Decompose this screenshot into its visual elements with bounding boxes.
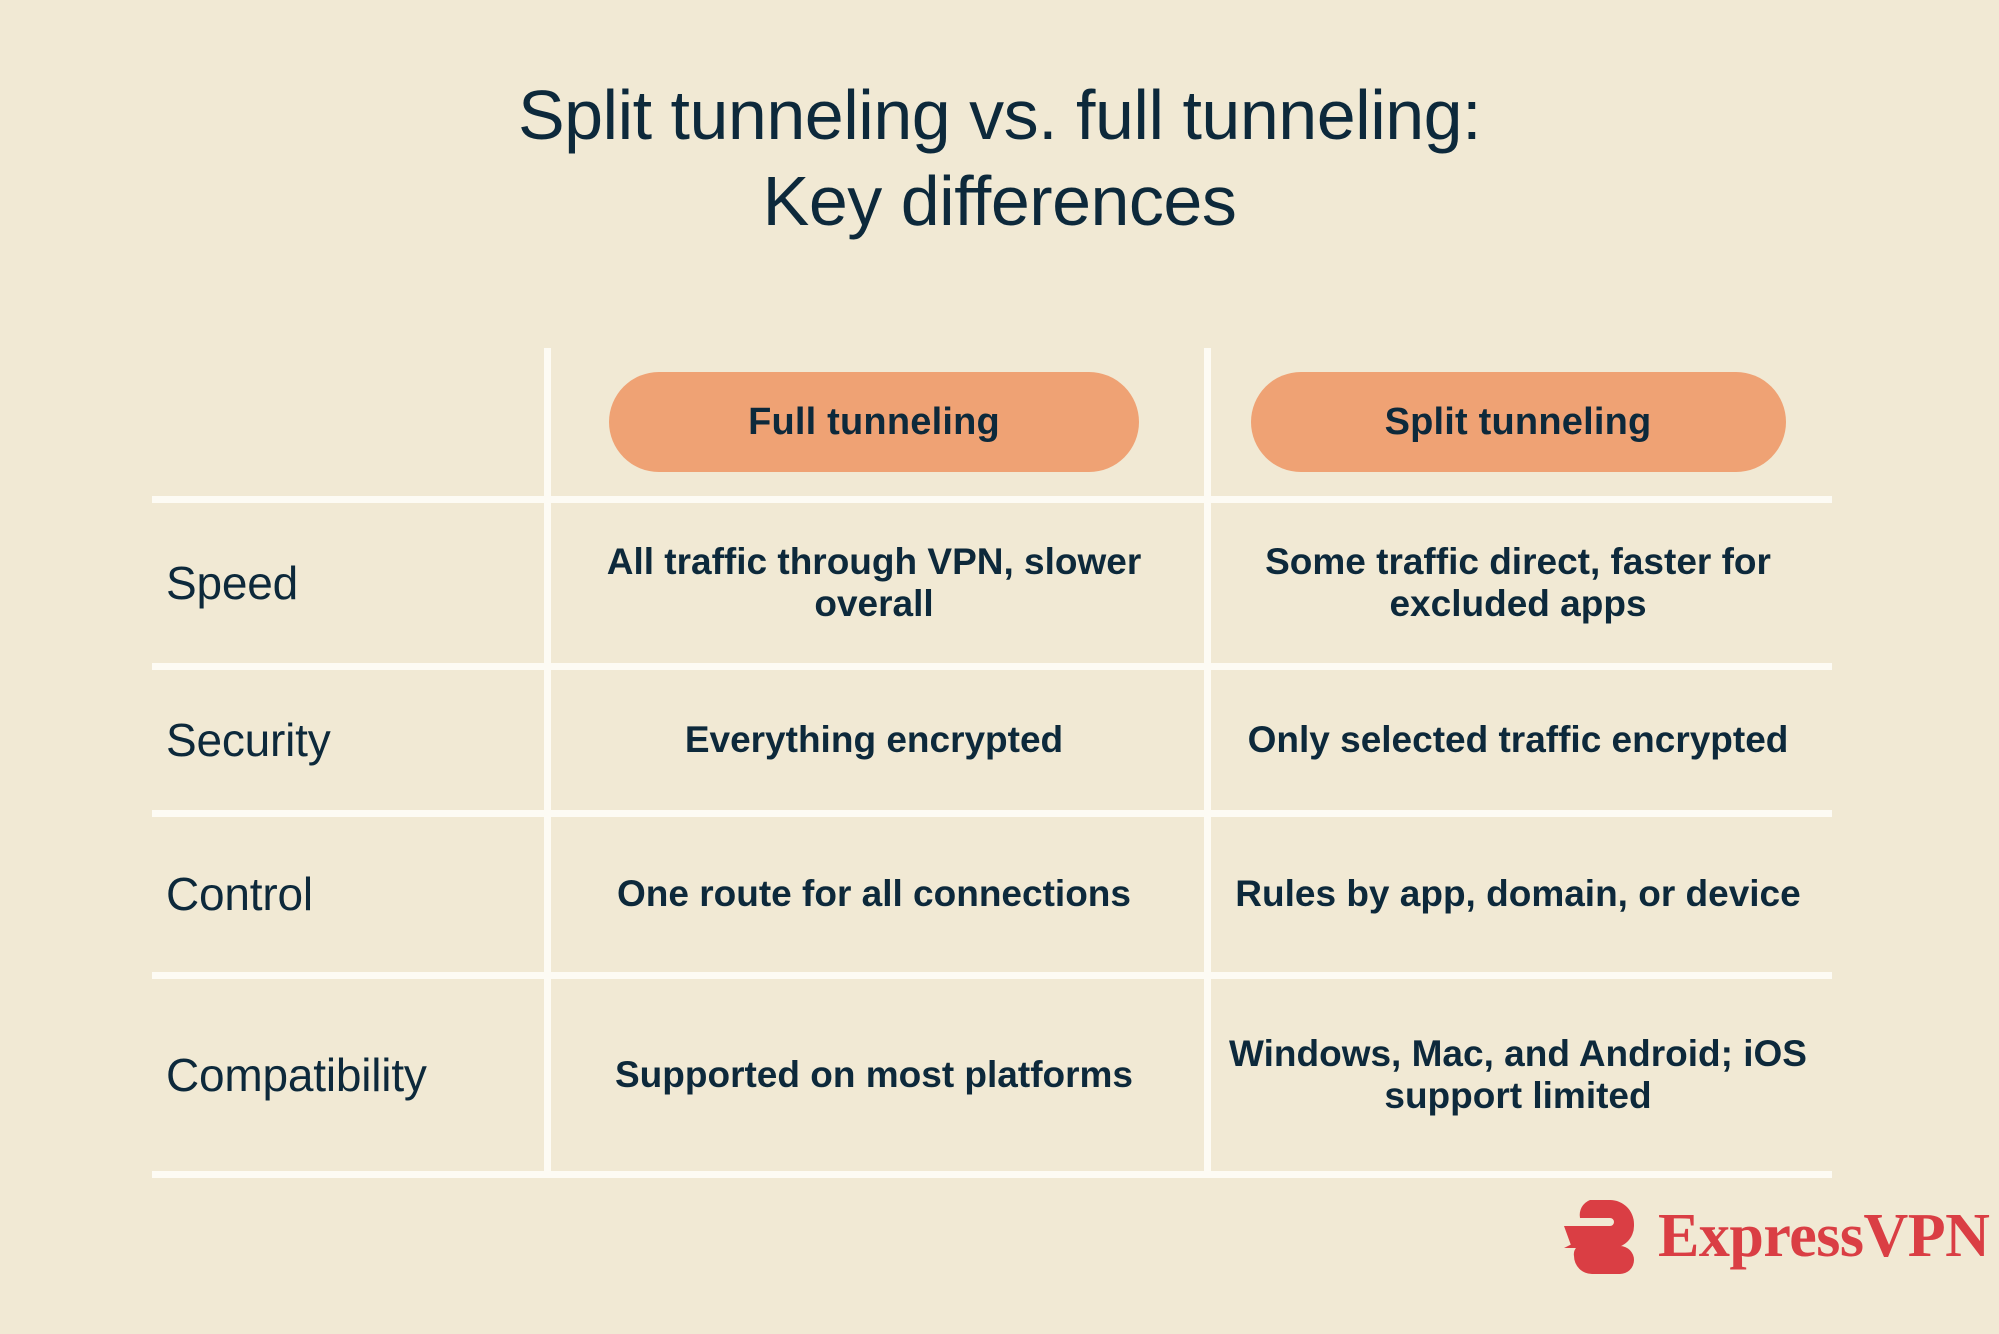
row-value-full: All traffic through VPN, slower overall xyxy=(544,503,1204,663)
row-label-cell: Control xyxy=(152,817,544,972)
expressvpn-wordmark: ExpressVPN xyxy=(1658,1205,1989,1267)
cell-compatibility-full: Supported on most platforms xyxy=(597,1054,1151,1096)
expressvpn-logo: ExpressVPN xyxy=(1556,1196,1989,1276)
header-cell-full-tunneling: Full tunneling xyxy=(544,348,1204,496)
table-row: Compatibility Supported on most platform… xyxy=(152,972,1832,1178)
row-label-security: Security xyxy=(166,715,331,766)
comparison-table: Full tunneling Split tunneling Speed All… xyxy=(152,348,1832,1178)
row-label-cell: Speed xyxy=(152,503,544,663)
table-row: Security Everything encrypted Only selec… xyxy=(152,663,1832,810)
title-line-1: Split tunneling vs. full tunneling: xyxy=(0,72,1999,158)
cell-security-full: Everything encrypted xyxy=(667,719,1081,761)
row-value-full: One route for all connections xyxy=(544,817,1204,972)
row-label-compatibility: Compatibility xyxy=(166,1050,427,1101)
row-label-control: Control xyxy=(166,869,313,920)
row-value-full: Supported on most platforms xyxy=(544,979,1204,1171)
cell-speed-split: Some traffic direct, faster for excluded… xyxy=(1204,541,1832,625)
row-label-speed: Speed xyxy=(166,558,298,609)
row-value-split: Rules by app, domain, or device xyxy=(1204,817,1832,972)
pill-full-tunneling: Full tunneling xyxy=(609,372,1139,472)
row-value-split: Only selected traffic encrypted xyxy=(1204,670,1832,810)
cell-control-full: One route for all connections xyxy=(599,873,1149,915)
row-value-split: Some traffic direct, faster for excluded… xyxy=(1204,503,1832,663)
page-title: Split tunneling vs. full tunneling: Key … xyxy=(0,72,1999,244)
table-row: Speed All traffic through VPN, slower ov… xyxy=(152,496,1832,663)
row-label-cell: Security xyxy=(152,670,544,810)
cell-compatibility-split: Windows, Mac, and Android; iOS support l… xyxy=(1204,1033,1832,1117)
table-row: Control One route for all connections Ru… xyxy=(152,810,1832,972)
header-cell-split-tunneling: Split tunneling xyxy=(1204,348,1832,496)
cell-speed-full: All traffic through VPN, slower overall xyxy=(544,541,1204,625)
row-label-cell: Compatibility xyxy=(152,979,544,1171)
row-value-split: Windows, Mac, and Android; iOS support l… xyxy=(1204,979,1832,1171)
cell-control-split: Rules by app, domain, or device xyxy=(1217,873,1818,915)
infographic-canvas: Split tunneling vs. full tunneling: Key … xyxy=(0,0,1999,1334)
row-value-full: Everything encrypted xyxy=(544,670,1204,810)
header-cell-criterion xyxy=(152,348,544,496)
cell-security-split: Only selected traffic encrypted xyxy=(1230,719,1807,761)
table-header-row: Full tunneling Split tunneling xyxy=(152,348,1832,496)
pill-split-tunneling: Split tunneling xyxy=(1251,372,1786,472)
expressvpn-e-mark-icon xyxy=(1556,1196,1642,1276)
title-line-2: Key differences xyxy=(0,158,1999,244)
